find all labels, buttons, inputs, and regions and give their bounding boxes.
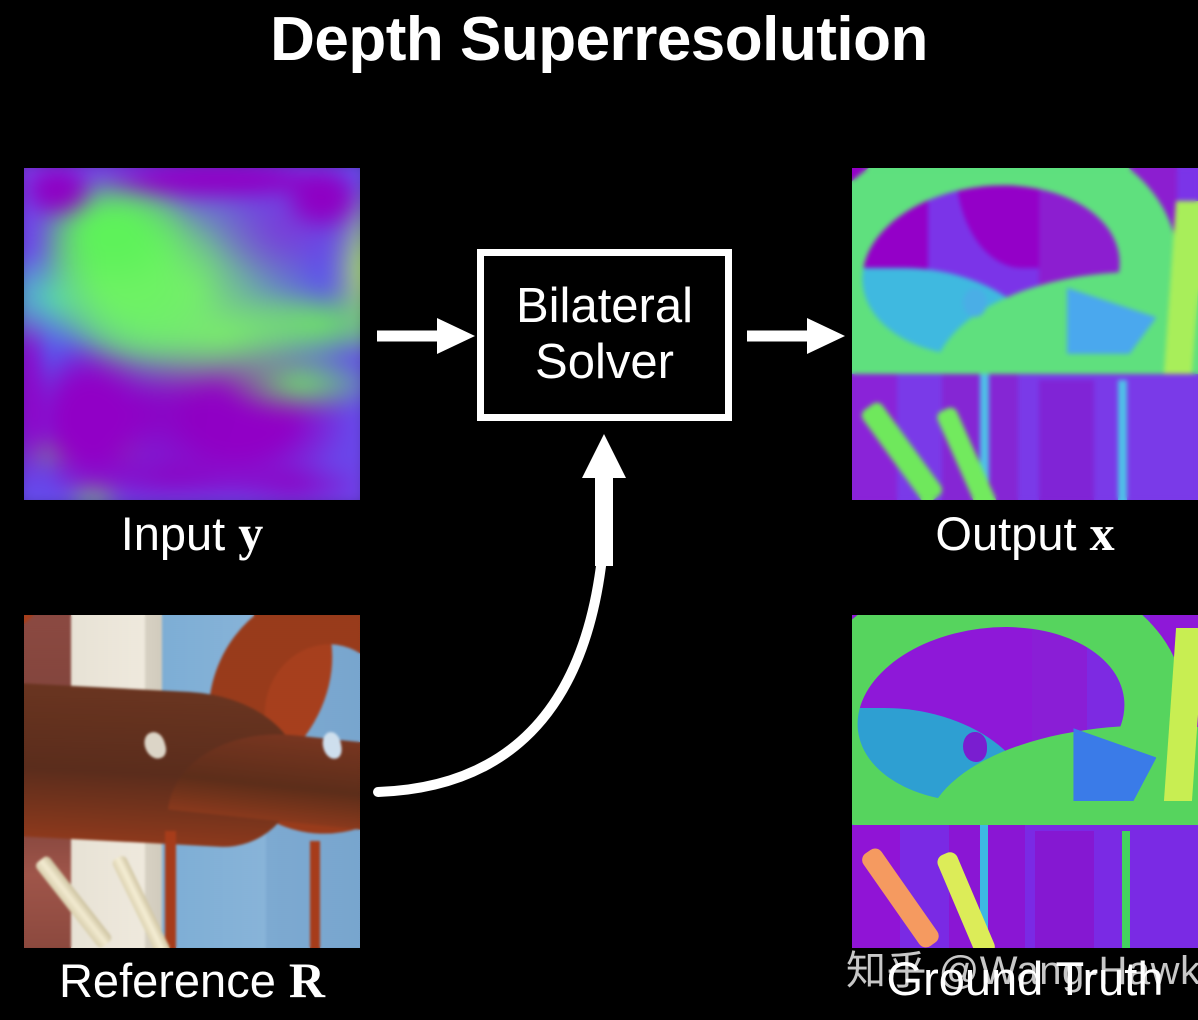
- output-depth-image: [852, 168, 1198, 500]
- reference-caption-label: Reference: [59, 954, 276, 1007]
- reference-photo-softening: [24, 615, 360, 948]
- reference-caption: Reference R: [24, 955, 360, 1005]
- arrow-input-to-solver-icon: [375, 310, 480, 362]
- gt-region-post-2: [1122, 831, 1130, 948]
- input-depth-image: [24, 168, 360, 500]
- bilateral-solver-line-1: Bilateral: [516, 279, 693, 335]
- ground-truth-depth-canvas: [852, 615, 1198, 948]
- output-depth-image-canvas: [852, 168, 1198, 500]
- reference-photo-canvas: [24, 615, 360, 948]
- input-depth-field: [24, 168, 360, 500]
- page-title: Depth Superresolution: [0, 4, 1198, 75]
- output-caption-label: Output: [935, 507, 1076, 560]
- input-caption: Input y: [24, 508, 360, 558]
- gt-region-floor-band-3: [1035, 831, 1094, 948]
- slide-canvas: Depth Superresolution Input y: [0, 0, 1198, 1020]
- bilateral-solver-box: Bilateral Solver: [477, 249, 732, 421]
- arrow-solver-to-output-icon: [745, 310, 850, 362]
- arrow-reference-to-solver-icon: [370, 430, 650, 830]
- input-caption-label: Input: [121, 507, 226, 560]
- ground-truth-depth-image: [852, 615, 1198, 948]
- bilateral-solver-line-2: Solver: [535, 335, 674, 391]
- ground-truth-caption: Ground Truth: [852, 955, 1198, 1002]
- reference-photo-image: [24, 615, 360, 948]
- output-caption: Output x: [852, 508, 1198, 558]
- reference-caption-symbol: R: [289, 952, 325, 1008]
- ground-truth-caption-label: Ground Truth: [887, 952, 1164, 1005]
- input-caption-symbol: y: [238, 505, 263, 561]
- gt-region-hole: [963, 732, 987, 762]
- output-caption-symbol: x: [1090, 505, 1115, 561]
- input-depth-image-canvas: [24, 168, 360, 500]
- output-edge-softening-overlay: [852, 168, 1198, 500]
